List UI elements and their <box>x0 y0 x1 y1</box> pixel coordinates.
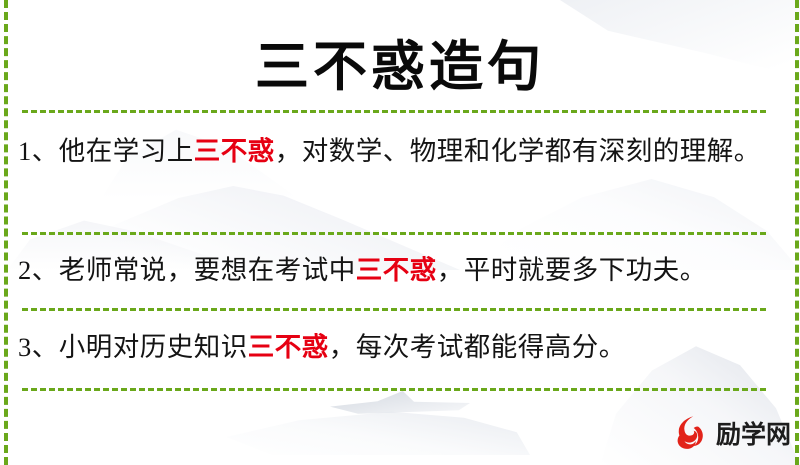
ink-wash-boat <box>330 388 470 418</box>
site-logo: 励学网 <box>672 414 791 452</box>
ink-wash-watermark <box>200 395 530 455</box>
divider-after-sentence-2 <box>22 308 766 311</box>
sentence-text-after: ，平时就要多下功夫。 <box>437 255 707 285</box>
sentence-text-before: 小明对历史知识 <box>59 332 248 362</box>
example-sentence-2: 2、老师常说，要想在考试中三不惑，平时就要多下功夫。 <box>18 248 770 293</box>
example-sentence-3: 3、小明对历史知识三不惑，每次考试都能得高分。 <box>18 325 770 370</box>
keyword-highlight: 三不惑 <box>356 255 437 285</box>
sentence-index: 3、 <box>18 332 59 362</box>
keyword-highlight: 三不惑 <box>194 136 275 166</box>
document-page: 三不惑造句 1、他在学习上三不惑，对数学、物理和化学都有深刻的理解。 2、老师常… <box>0 0 800 465</box>
page-title: 三不惑造句 <box>0 22 800 101</box>
divider-after-sentence-1 <box>22 232 766 235</box>
sentence-text-after: ，每次考试都能得高分。 <box>329 332 626 362</box>
sentence-text-before: 老师常说，要想在考试中 <box>59 255 356 285</box>
keyword-highlight: 三不惑 <box>248 332 329 362</box>
sentence-text-after: ，对数学、物理和化学都有深刻的理解。 <box>275 136 761 166</box>
sentence-index: 2、 <box>18 255 59 285</box>
flame-swirl-icon <box>672 414 710 452</box>
divider-after-sentence-3 <box>22 388 766 391</box>
sentence-index: 1、 <box>18 136 59 166</box>
example-sentence-1: 1、他在学习上三不惑，对数学、物理和化学都有深刻的理解。 <box>18 129 770 174</box>
site-logo-text: 励学网 <box>716 415 791 451</box>
sentence-text-before: 他在学习上 <box>59 136 194 166</box>
divider-below-title <box>22 110 766 113</box>
